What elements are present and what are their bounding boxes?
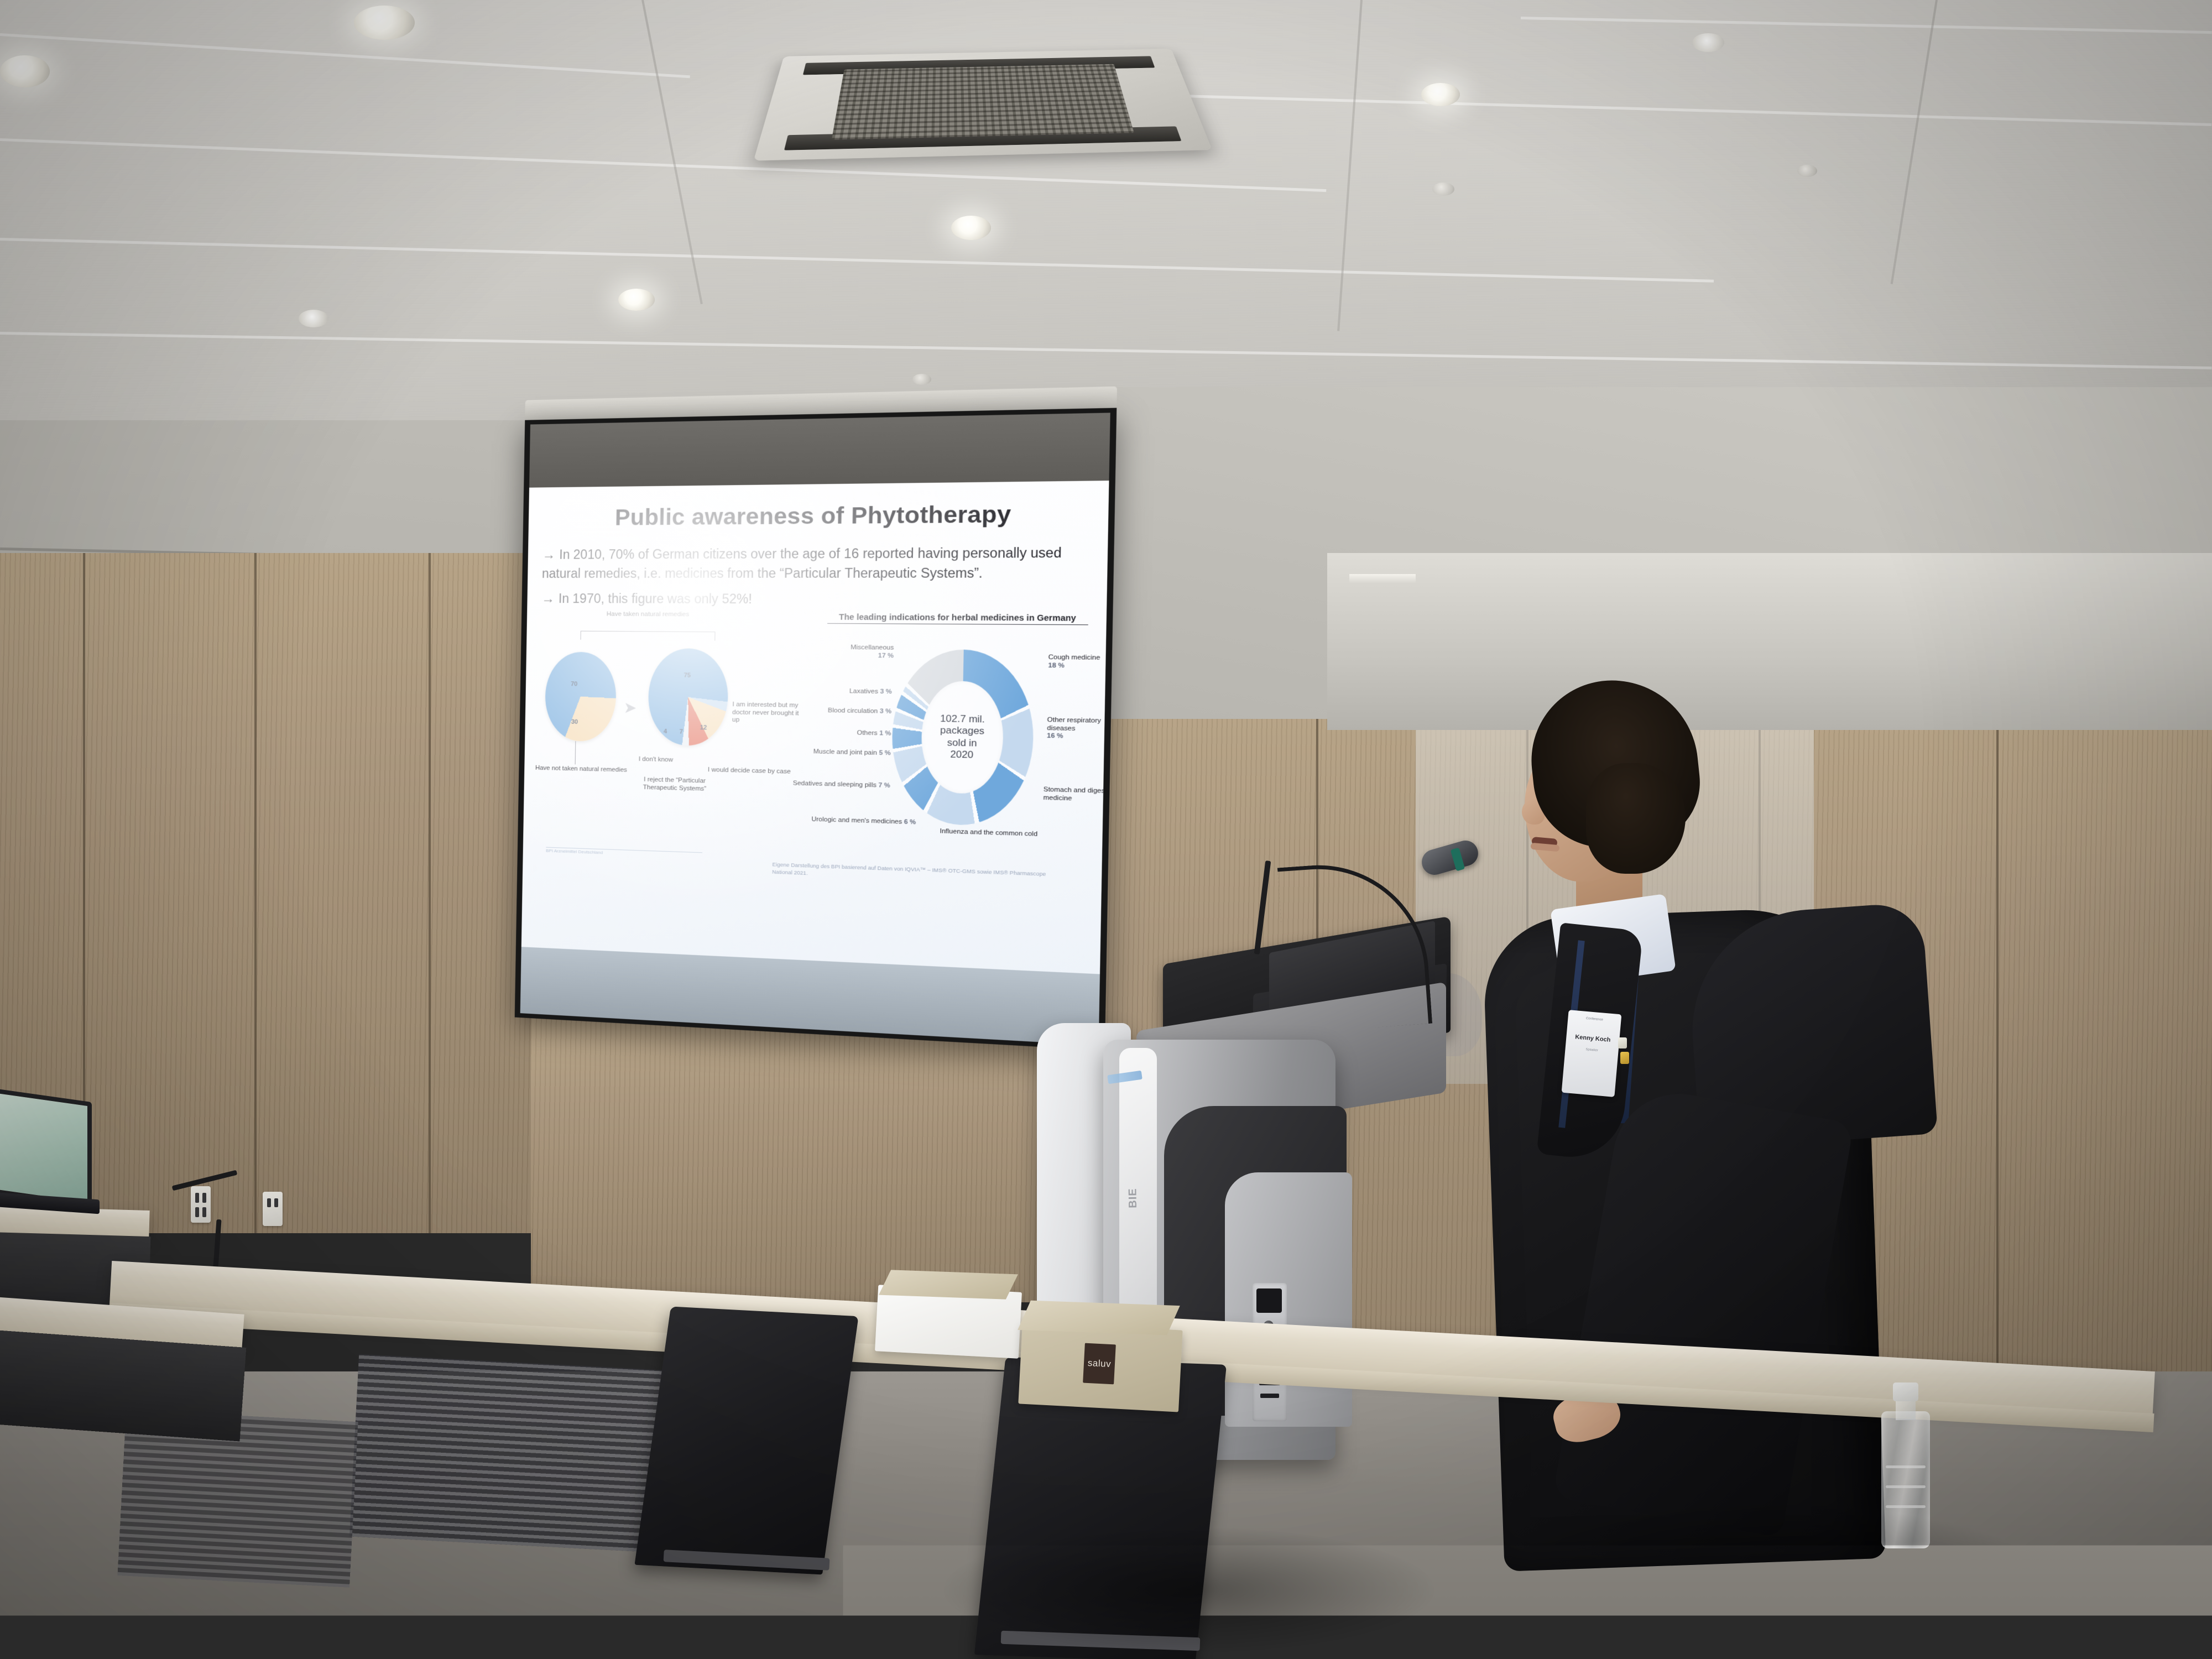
lectern-port (1260, 1394, 1279, 1398)
arrow-icon: → (542, 547, 555, 562)
donut-label-influenza: Influenza and the common cold (940, 828, 1037, 839)
floor-shadow (1493, 1504, 2046, 1648)
white-box-flap (879, 1270, 1018, 1299)
donut-center-line: sold in (947, 737, 977, 750)
projected-slide: Public awareness of Phytotherapy →In 201… (521, 481, 1109, 974)
front-table-underside (0, 1329, 246, 1441)
ceiling-downlight (0, 55, 50, 87)
outlet-slot (195, 1193, 199, 1203)
pie-chart-attitudes (648, 648, 729, 747)
floor-shadow (940, 1526, 1438, 1653)
donut-chart: 102.7 mil. packages sold in 2020 (891, 649, 1035, 827)
pie-label-interested: I am interested but my doctor never brou… (732, 701, 800, 726)
kraft-box-flap (1018, 1301, 1180, 1335)
ceiling-downlight (1692, 33, 1724, 52)
power-outlet[interactable] (263, 1192, 283, 1226)
badge-header: Conference (1571, 1016, 1618, 1024)
arrow-icon: → (541, 591, 555, 606)
smoke-detector-icon (1432, 182, 1454, 196)
slide-bullet-text: In 2010, 70% of German citizens over the… (542, 545, 1062, 581)
speaker-lapel-pin (1618, 1037, 1627, 1048)
wood-panel-joint (429, 553, 431, 1233)
badge-name: Kenny Koch (1569, 1033, 1616, 1044)
donut-label-laxatives: Laxatives 3 % (803, 687, 891, 697)
pie-chart-usage (545, 651, 617, 742)
ceiling-downlight (354, 6, 415, 40)
donut-label-blood-circulation: Blood circulation 3 % (795, 707, 891, 716)
ceiling-downlight (618, 289, 655, 311)
projection-screen: Public awareness of Phytotherapy →In 201… (515, 408, 1117, 1051)
bottle-rib (1886, 1465, 1926, 1468)
chevron-right-icon: ➤ (623, 698, 637, 717)
smoke-detector-icon (1797, 165, 1817, 177)
donut-label-muscle-joint: Muscle and joint pain 5 % (787, 748, 891, 758)
power-outlet[interactable] (191, 1186, 211, 1223)
speaker-person: Conference Kenny Koch Speaker (1460, 680, 2013, 1565)
donut-label-cough: Cough medicine 18 % (1048, 654, 1109, 671)
wood-panel-joint (254, 553, 257, 1233)
ceiling-downlight (1421, 83, 1460, 106)
donut-label-other-respiratory: Other respiratory diseases 16 % (1047, 716, 1109, 742)
pie-value-interested: 75 (684, 672, 691, 679)
ceiling-ac-unit (754, 49, 1212, 161)
side-laptop-screen (0, 1088, 92, 1207)
donut-center-line: 2020 (950, 749, 973, 761)
donut-label-stomach: Stomach and digestive medicine (1043, 786, 1109, 804)
lectern-panel-display (1256, 1288, 1282, 1313)
pie-label-dont-know: I don't know (625, 755, 687, 765)
slide-bullet: →In 1970, this figure was only 52%! (541, 589, 1091, 611)
lectern-front-face (1225, 1172, 1352, 1427)
pie-value-not-taken: 30 (571, 718, 578, 725)
pie-value-dont-know: 7 (680, 728, 683, 735)
pie-label-not-taken: Have not taken natural remedies (534, 764, 628, 774)
bottle-cap[interactable] (1893, 1383, 1918, 1401)
lectern-brand-text: BIE (1126, 1188, 1140, 1208)
slide-bullet-text: In 1970, this figure was only 52%! (559, 591, 752, 606)
pie-group-label: Have taken natural remedies (592, 611, 704, 619)
smoke-detector-icon (912, 374, 931, 385)
pie-label-case-by-case: I would decide case by case (706, 766, 793, 776)
badge-subtitle: Speaker (1568, 1046, 1615, 1053)
slide-content: Public awareness of Phytotherapy →In 201… (521, 481, 1109, 974)
pie-value-taken: 70 (571, 681, 577, 687)
outlet-slot (202, 1207, 206, 1217)
speaker-badge: Conference Kenny Koch Speaker (1562, 1010, 1622, 1097)
ceiling-downlight (951, 216, 991, 240)
pie-value-reject: 4 (664, 728, 667, 735)
speaker-hair-back (1586, 763, 1686, 874)
donut-center-line: packages (940, 725, 984, 738)
donut-label-sedatives: Sedatives and sleeping pills 7 % (786, 780, 890, 790)
outlet-slot (195, 1207, 199, 1217)
slide-charts: The leading indications for herbal medic… (536, 615, 1090, 914)
wall-wood-panel (531, 1015, 1095, 1302)
alcove-light-strip (1349, 574, 1416, 583)
screen-letterbox-top (529, 413, 1110, 491)
donut-label-others: Others 1 % (794, 728, 891, 738)
pie-value-case-by-case: 12 (700, 724, 707, 732)
donut-center-line: 102.7 mil. (940, 713, 985, 726)
pie-leader-line (575, 741, 576, 764)
slide-bullet: →In 2010, 70% of German citizens over th… (542, 543, 1092, 583)
ceiling-downlight (299, 310, 328, 327)
chair[interactable] (634, 1307, 858, 1575)
speaker-lapel-pin (1620, 1052, 1629, 1064)
kraft-box-logo: saluv (1083, 1343, 1116, 1385)
outlet-slot (202, 1193, 206, 1203)
outlet-slot (274, 1198, 278, 1207)
lecture-hall-scene: Public awareness of Phytotherapy →In 201… (0, 0, 2212, 1659)
pie-label-reject: I reject the “Particular Therapeutic Sys… (632, 776, 717, 794)
donut-label-miscellaneous: Miscellaneous 17 % (822, 644, 894, 660)
pie-bracket (580, 630, 715, 640)
donut-chart-heading: The leading indications for herbal medic… (827, 613, 1088, 625)
side-laptop[interactable] (0, 1095, 100, 1222)
slide-bullet-list: →In 2010, 70% of German citizens over th… (541, 543, 1092, 610)
slide-title: Public awareness of Phytotherapy (542, 500, 1092, 531)
outlet-slot (267, 1198, 271, 1207)
slide-source-note: Eigene Darstellung des BPI basierend auf… (772, 862, 1054, 886)
bottle-rib (1886, 1485, 1926, 1488)
